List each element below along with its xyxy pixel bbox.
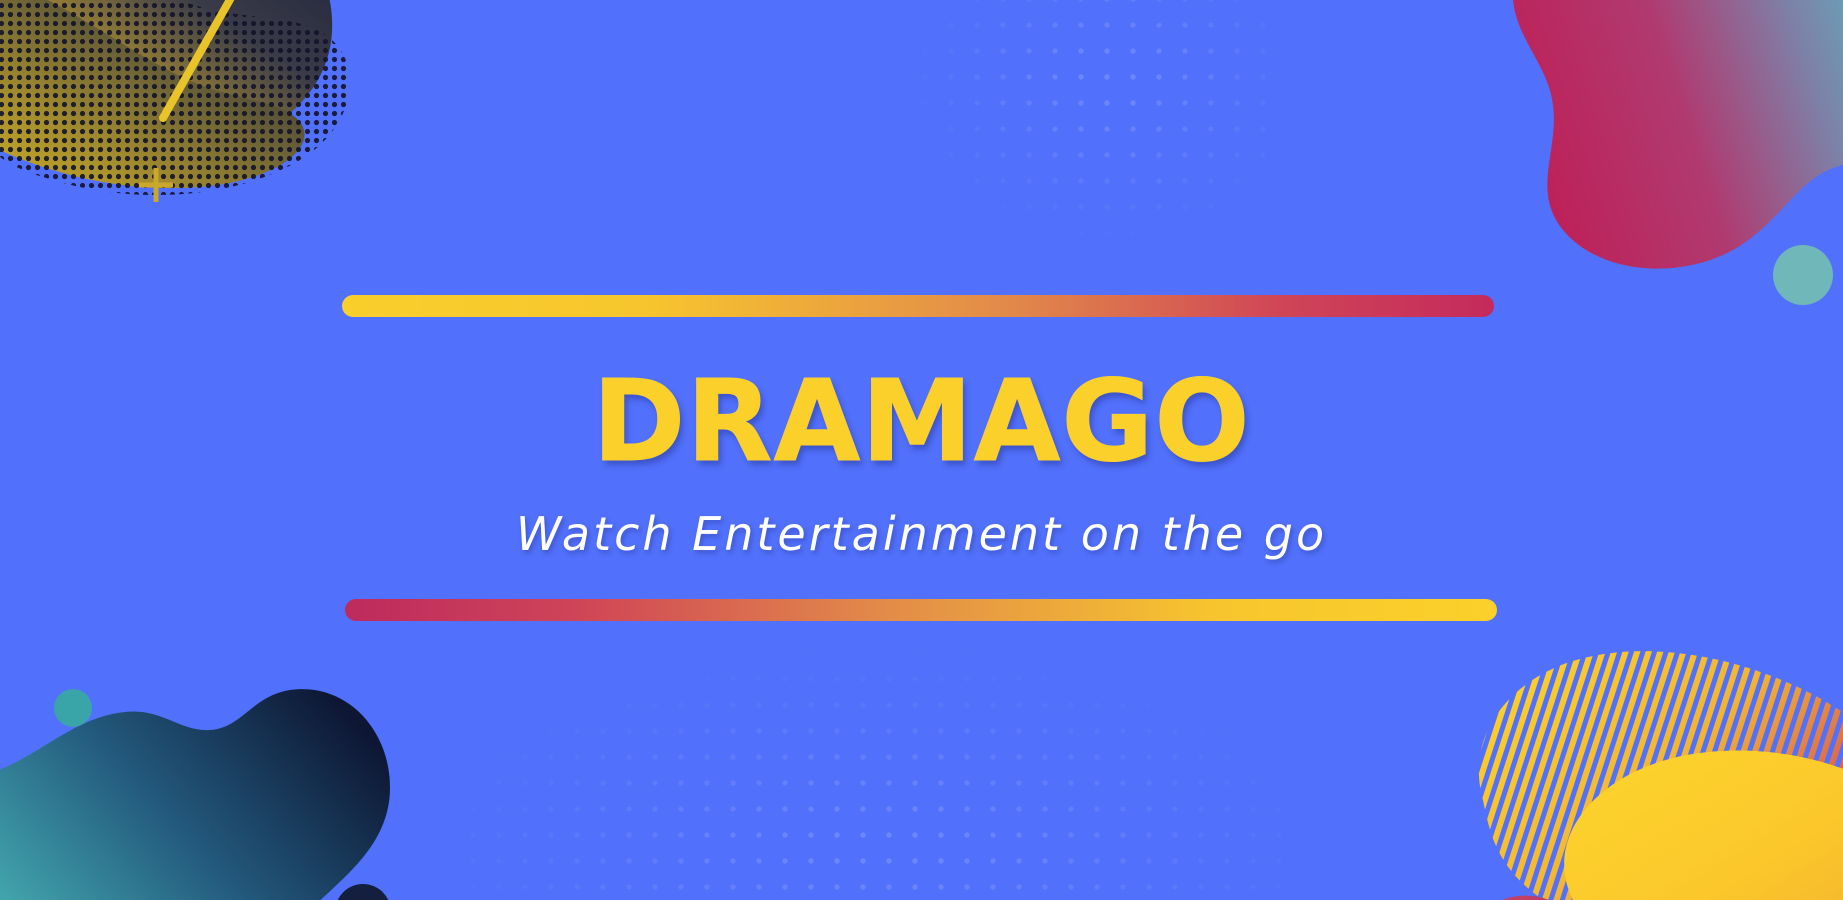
navy-dot-icon: [335, 884, 391, 900]
teal-circle-small-icon: [54, 689, 92, 727]
teal-navy-blob-shape: [0, 689, 390, 900]
crimson-underlay-shape: [1473, 896, 1596, 900]
background-dot-pattern-top: [860, 0, 1280, 260]
gold-dark-blob-shape: [0, 0, 332, 165]
page-title: DRAMAGO: [342, 366, 1502, 478]
background-dot-pattern-bottom: [330, 640, 1330, 900]
solid-gold-blob-shape: [1564, 751, 1843, 900]
spacer: [342, 557, 1502, 599]
teal-circle-icon: [1773, 245, 1833, 305]
diagonal-stripes-icon: [1479, 651, 1843, 900]
crimson-teal-blob-shape: [1513, 0, 1843, 269]
plus-mark-icon: [139, 168, 173, 202]
banner-center-content: DRAMAGO Watch Entertainment on the go: [342, 295, 1502, 621]
halftone-dots-icon: [0, 0, 360, 230]
bottom-divider-bar: [345, 599, 1497, 621]
top-divider-bar: [342, 295, 1494, 317]
diagonal-stick-icon: [163, 0, 275, 118]
gold-secondary-lobe: [0, 0, 304, 188]
top-right-decoration: [1403, 0, 1843, 310]
top-left-decoration: [0, 0, 440, 310]
page-subtitle: Watch Entertainment on the go: [342, 511, 1502, 557]
promo-banner: DRAMAGO Watch Entertainment on the go: [0, 0, 1843, 900]
